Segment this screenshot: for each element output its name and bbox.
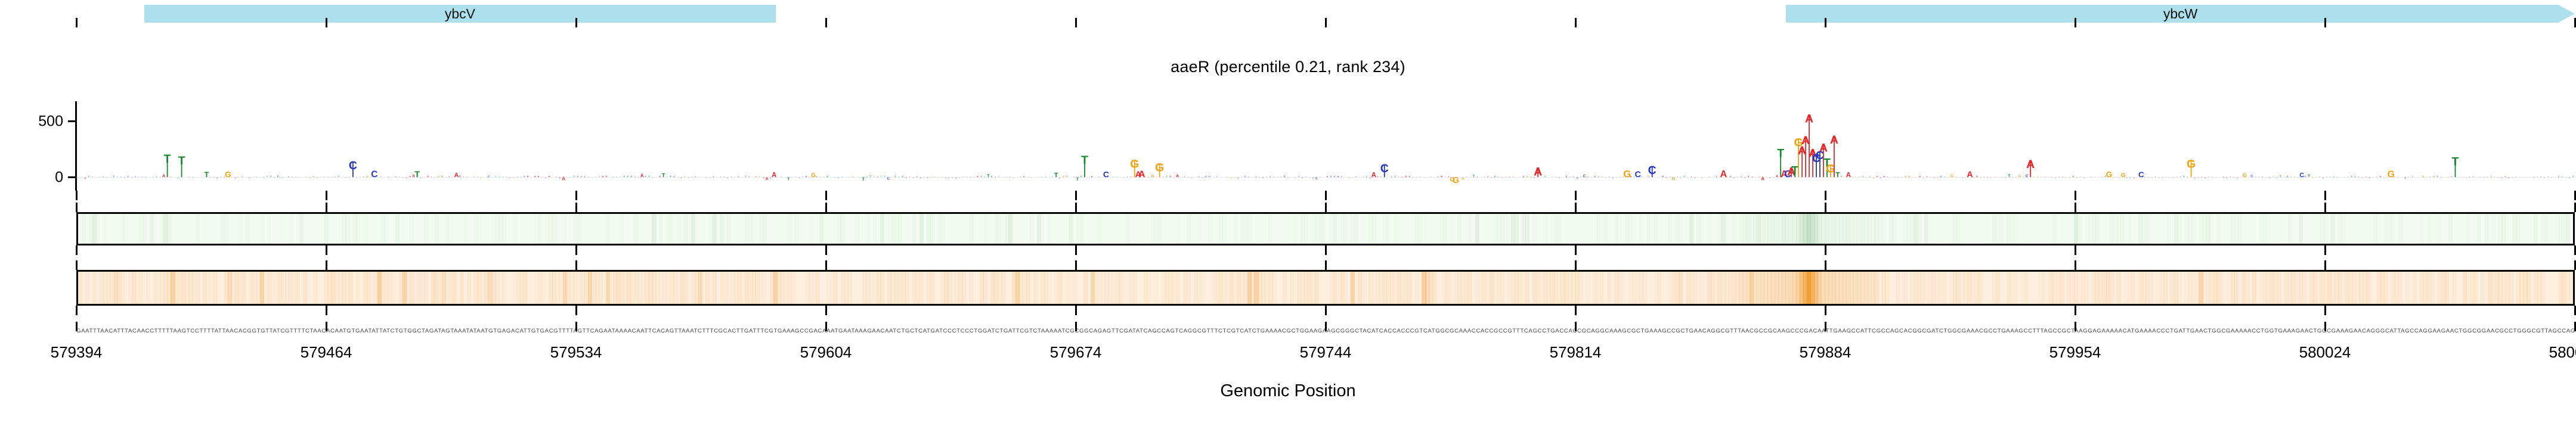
svg-text:C: C [2250,175,2253,179]
heat-cell [2014,272,2018,304]
svg-text:T: T [987,173,990,179]
axis-tick-stub [1575,203,1577,212]
svg-text:G: G [710,178,711,179]
heat-cell [146,272,150,304]
svg-text:G: G [2172,176,2174,179]
axis-tick-stub [2324,260,2326,270]
heat-cell [1475,214,1479,244]
heat-cell [2398,272,2402,304]
svg-text:A: A [1573,176,1574,178]
svg-text:G: G [1672,176,1676,181]
heat-cell [385,214,389,244]
svg-text:T: T [205,170,209,179]
axis-tick-stub [1575,18,1577,27]
heat-cell [727,214,731,244]
svg-text:C: C [2023,177,2024,178]
svg-text:T: T [156,176,157,178]
svg-text:C: C [1244,176,1246,178]
svg-text:A: A [659,176,661,178]
svg-text:T: T [2412,176,2413,178]
svg-text:C: C [1612,176,1614,179]
heat-cell [2324,214,2328,244]
svg-text:G: G [1991,178,1992,179]
svg-text:A: A [1441,175,1443,179]
x-axis-label: Genomic Position [0,381,2576,401]
svg-text:A: A [431,176,432,178]
heat-cell [1272,272,1276,304]
heat-cell [267,214,271,244]
svg-text:T: T [2572,176,2574,178]
heat-cell [2299,214,2303,244]
svg-text:G: G [1123,178,1125,179]
axis-tick-stub [2075,191,2076,200]
svg-text:C: C [1006,177,1007,178]
svg-text:T: T [192,178,193,179]
svg-text:A: A [1846,172,1851,179]
svg-text:G: G [2290,176,2292,178]
heat-cell [502,214,506,244]
axis-tick-stub [1075,18,1077,27]
svg-text:A: A [249,176,250,179]
svg-text:C: C [1103,170,1109,179]
svg-text:A: A [2148,177,2149,179]
svg-text:G: G [592,178,593,179]
svg-text:A: A [1337,176,1339,178]
svg-text:A: A [1255,176,1256,178]
svg-text:A: A [1887,176,1888,178]
svg-text:A: A [1662,175,1664,179]
svg-text:T: T [1544,176,1546,178]
svg-text:A: A [1980,177,1981,179]
heat-cell [1457,214,1462,244]
svg-text:A: A [756,176,757,178]
heat-cell [1515,214,1519,244]
heat-cell [1896,272,1900,304]
svg-text:C: C [1730,176,1732,178]
svg-text:C: C [673,176,675,178]
svg-text:A: A [909,176,911,178]
heat-cell [121,272,125,304]
svg-text:G: G [1234,178,1236,179]
heat-cell [599,272,603,304]
svg-text:C: C [1184,176,1185,178]
svg-text:T: T [1716,176,1717,178]
heat-cell [150,214,154,244]
heat-cell [1668,214,1672,244]
heat-cell [898,214,902,244]
heat-cell [1639,214,1643,244]
heat-cell [2302,272,2306,304]
heat-cell [2131,272,2135,304]
svg-text:A: A [2319,176,2320,178]
svg-text:T: T [1473,175,1475,179]
heat-cell [1176,214,1180,244]
svg-text:A: A [2202,176,2203,178]
heat-cell [1874,272,1878,304]
svg-text:A: A [913,176,914,179]
svg-text:A: A [288,176,289,178]
heat-cell [1176,272,1180,304]
heat-cell [1147,272,1151,304]
svg-text:G: G [1587,176,1589,178]
svg-text:T: T [2537,177,2538,178]
svg-text:A: A [1691,176,1692,178]
svg-text:A: A [2540,176,2541,178]
svg-text:G: G [2066,178,2067,179]
heat-cell [1707,214,1711,244]
heat-cell [121,214,125,244]
svg-text:A: A [1010,176,1011,178]
heat-cell [1407,272,1411,304]
svg-text:T: T [309,176,311,179]
x-tick-label: 579954 [2049,343,2101,362]
svg-text:G: G [1030,178,1032,179]
heat-cell [196,214,200,244]
heat-cell [1942,272,1946,304]
heat-cell [691,214,695,244]
heat-cell [2477,214,2481,244]
svg-text:A: A [2366,176,2367,178]
x-tick-mark [1825,322,1826,331]
svg-text:G: G [974,177,975,178]
heat-cell [677,214,681,244]
heat-cell [1500,272,1504,304]
heat-cell [2263,214,2267,244]
x-tick-mark [1325,322,1327,331]
heat-cell [2427,214,2431,244]
svg-text:C: C [2451,176,2452,178]
svg-text:G: G [438,176,439,178]
heat-cell [1596,214,1600,244]
heat-cell [460,272,464,304]
svg-text:T: T [1395,176,1397,178]
svg-text:C: C [216,177,218,179]
svg-text:T: T [1295,178,1296,179]
axis-tick-stub [825,191,827,200]
svg-text:T: T [652,178,654,179]
svg-text:C: C [178,176,179,179]
svg-text:G: G [1512,176,1513,178]
svg-text:T: T [2183,176,2185,178]
svg-text:G: G [1959,178,1960,179]
svg-text:A: A [409,176,411,178]
heat-cell [2117,272,2121,304]
x-tick-mark [2075,322,2076,331]
svg-text:A: A [454,172,459,179]
axis-tick-stub [76,245,78,255]
heat-cell [684,214,688,244]
importance-signal-axes: GATTTAACTTTACAACCTTTTATGCTTTTTAACACGGTGT… [76,101,2575,191]
heat-cell [552,214,556,244]
svg-text:T: T [2355,176,2356,178]
svg-text:A: A [1534,165,1542,178]
svg-text:G: G [1866,177,1867,178]
svg-text:G: G [759,176,760,178]
axis-tick-stub [76,260,78,270]
heat-cell [577,214,581,244]
svg-text:A: A [720,176,722,178]
svg-text:A: A [1477,176,1478,178]
heat-cell [92,272,97,304]
svg-text:G: G [1287,176,1289,179]
svg-text:C: C [1494,176,1496,178]
heat-cell [962,272,966,304]
svg-text:T: T [441,176,443,178]
svg-text:A: A [977,176,979,178]
svg-text:A: A [388,176,389,178]
heat-cell [969,214,973,244]
svg-text:G: G [1498,176,1499,178]
heat-cell [467,272,471,304]
svg-text:T: T [881,176,882,178]
heat-cell [834,272,838,304]
heat-cell [2206,214,2210,244]
svg-text:A: A [1023,176,1025,178]
svg-text:G: G [1873,177,1875,179]
svg-text:T: T [2008,175,2011,179]
heat-cell [1343,272,1348,304]
heat-cell [167,214,171,244]
y-tick-label: 500 [0,113,63,130]
axis-tick-stub [76,203,78,212]
heat-cell [2145,214,2150,244]
heat-cell [1504,214,1508,244]
heat-cell [2234,272,2238,304]
x-tick-mark [76,322,78,331]
svg-text:A: A [2187,176,2188,178]
svg-text:A: A [1919,176,1921,178]
heat-cell [2534,214,2538,244]
svg-text:A: A [1695,176,1696,179]
heat-cell [1351,272,1355,304]
axis-tick-stub [1075,260,1077,270]
heat-cell [1732,214,1736,244]
svg-text:G: G [473,176,475,178]
svg-text:G: G [2106,170,2113,179]
axis-tick-stub [2324,18,2326,27]
svg-text:G: G [1348,176,1350,179]
svg-text:G: G [2018,175,2021,179]
heat-cell [930,214,934,244]
axis-tick-stub [2075,18,2076,27]
heat-cell [1621,272,1626,304]
svg-text:A: A [2547,176,2549,178]
heat-cell [1603,214,1608,244]
svg-text:T: T [113,176,115,178]
heat-cell [634,214,638,244]
heat-cell [2052,214,2057,244]
svg-text:C: C [584,176,586,178]
svg-text:G: G [1155,161,1164,175]
heat-cell [538,214,542,244]
svg-text:C: C [1262,176,1264,179]
heat-cell [1418,214,1422,244]
heat-cell [313,272,317,304]
heat-cell [2149,272,2153,304]
svg-text:A: A [955,176,957,179]
heat-cell [1026,272,1030,304]
heat-cell [670,214,674,244]
heat-cell [1999,214,2004,244]
svg-text:A: A [296,176,297,178]
heat-cell [659,214,663,244]
heat-cell [1222,214,1227,244]
heat-cell [502,272,506,304]
x-axis: 5793945794645795345796045796745797445798… [76,310,2575,346]
svg-text:A: A [2512,177,2513,179]
axis-tick-stub [2574,306,2576,315]
heat-cell [242,272,246,304]
svg-text:A: A [2469,176,2470,178]
svg-text:G: G [481,176,482,179]
svg-text:A: A [984,176,986,178]
svg-text:G: G [2565,178,2566,179]
heat-cell [652,214,656,244]
svg-text:A: A [103,176,104,178]
svg-text:C: C [1741,176,1742,178]
axis-tick-stub [2574,191,2576,200]
heat-cell [1450,214,1454,244]
page-title: aaeR (percentile 0.21, rank 234) [0,58,2576,76]
heat-cell [873,214,877,244]
heat-cell [763,214,767,244]
svg-text:G: G [78,176,79,179]
x-tick-label: 579814 [1550,343,1602,362]
svg-text:T: T [178,154,185,167]
heat-cell [1679,214,1683,244]
svg-text:G: G [1151,175,1154,179]
x-tick-label: 580094 [2549,343,2576,362]
heat-cell [1080,214,1084,244]
svg-text:C: C [1855,177,1856,178]
heat-cell [463,214,467,244]
heat-cell [1322,214,1326,244]
heat-cell [1073,272,1077,304]
svg-text:T: T [649,176,651,178]
heat-cell [1643,272,1647,304]
svg-text:G: G [313,176,315,178]
heat-cell [1892,214,1896,244]
heat-cell [2473,272,2478,304]
axis-tick-stub [76,18,78,27]
svg-text:T: T [435,178,436,179]
svg-text:C: C [1869,176,1871,178]
heat-cell [1614,214,1618,244]
heat-cell [794,214,798,244]
svg-text:T: T [270,176,272,178]
heat-cell [299,214,304,244]
heat-cell [1083,272,1088,304]
svg-text:T: T [1841,176,1843,178]
heat-cell [424,272,428,304]
gene-annotation-track: ybcVybcW [0,0,2576,27]
heat-cell [912,214,917,244]
svg-text:C: C [1648,164,1657,177]
heat-cell [1654,214,1658,244]
svg-text:G: G [531,178,532,179]
svg-text:A: A [1176,173,1179,179]
svg-text:T: T [2012,178,2014,179]
axis-tick-stub [575,191,577,200]
svg-text:T: T [506,177,507,178]
axis-tick-stub [1825,18,1826,27]
heat-cell [2014,214,2018,244]
svg-text:C: C [2305,176,2306,178]
heat-cell [296,272,300,304]
heat-cell [2167,214,2171,244]
heat-cell [1646,214,1651,244]
axis-tick-stub [2574,245,2576,255]
heat-cell [139,272,143,304]
svg-text:G: G [2383,176,2385,179]
axis-tick-stub [326,18,327,27]
axis-tick-stub [1325,260,1327,270]
heat-cell [752,214,756,244]
heat-cell [2373,214,2377,244]
svg-text:A: A [1773,177,1775,179]
heat-cell [2413,272,2417,304]
svg-text:A: A [2362,176,2363,178]
svg-text:A: A [2508,176,2510,179]
heat-cell [82,214,86,244]
svg-text:A: A [381,176,382,178]
heat-cell [1372,214,1376,244]
heat-cell [809,214,813,244]
heat-cell [1443,214,1447,244]
svg-text:A: A [1877,176,1878,178]
heat-cell [855,214,859,244]
svg-text:C: C [1523,176,1525,178]
svg-text:T: T [1298,176,1299,178]
axis-tick-stub [2324,203,2326,212]
heat-cell [345,214,349,244]
svg-text:C: C [1270,176,1271,178]
heat-cell [698,272,702,304]
svg-text:G: G [2243,173,2247,179]
svg-text:G: G [1950,175,1953,179]
heat-cell [410,214,414,244]
y-tick-mark [68,176,76,178]
svg-text:G: G [2216,177,2217,178]
heat-cell [1607,272,1611,304]
heat-cell [363,214,367,244]
heat-cell [1628,214,1633,244]
svg-text:A: A [2223,176,2224,178]
svg-text:C: C [1205,176,1207,178]
svg-text:A: A [1927,176,1928,178]
svg-text:G: G [684,176,686,178]
svg-text:T: T [2130,176,2131,179]
svg-text:T: T [542,177,543,178]
svg-text:C: C [256,177,258,178]
svg-text:C: C [524,176,525,178]
svg-text:T: T [2491,176,2492,178]
heat-cell [1315,272,1319,304]
axis-tick-stub [575,203,577,212]
heat-cell [453,272,457,304]
x-tick-mark [575,322,577,331]
heat-cell [1881,214,1885,244]
genome-browser-plot: ybcVybcW aaeR (percentile 0.21, rank 234… [0,0,2576,429]
heat-cell [473,214,478,244]
svg-text:G: G [1487,176,1489,178]
axis-tick-stub [76,191,78,200]
svg-text:A: A [1509,176,1510,178]
svg-text:C: C [2169,178,2171,179]
heat-cell [2491,214,2495,244]
heat-cell [816,272,820,304]
axis-tick-stub [326,306,327,315]
